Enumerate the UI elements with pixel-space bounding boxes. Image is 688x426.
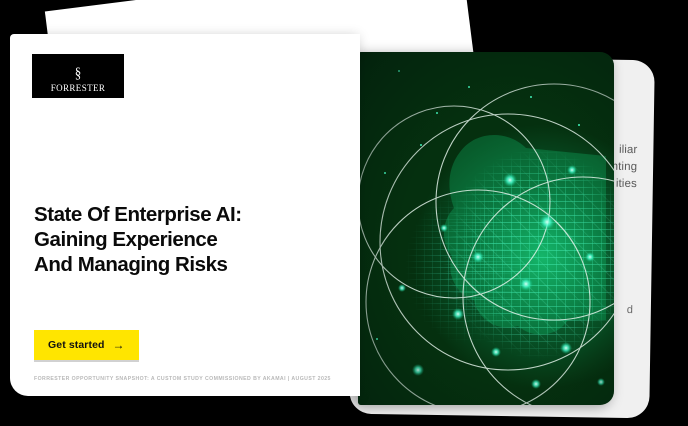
forrester-logo-mark: § [75, 65, 82, 80]
card-footer-text: FORRESTER OPPORTUNITY SNAPSHOT: A CUSTOM… [34, 376, 331, 382]
promo-main-card: § Forrester State Of Enterprise AI: Gain… [10, 34, 360, 396]
background-card-text-line-2: nting [612, 159, 638, 176]
page-title-line-2: Gaining Experience [34, 227, 242, 252]
get-started-button[interactable]: Get started → [34, 330, 139, 360]
page-title: State Of Enterprise AI: Gaining Experien… [34, 202, 242, 277]
get-started-label: Get started [48, 339, 105, 351]
background-card-text-line-1: iliar [612, 142, 638, 159]
page-title-line-3: And Managing Risks [34, 252, 242, 277]
background-card-text-lower: d [627, 302, 633, 318]
page-title-line-1: State Of Enterprise AI: [34, 202, 242, 227]
background-card-text-block: iliar nting ities [611, 142, 637, 193]
background-card-text-line-3: ities [611, 176, 637, 193]
forrester-logo-wordmark: Forrester [51, 80, 106, 94]
graphic-vignette [358, 52, 614, 405]
arrow-right-icon: → [113, 340, 125, 350]
promo-banner-stage: iliar nting ities d Balance Innovation W… [0, 0, 688, 426]
forrester-logo: § Forrester [32, 54, 124, 98]
ai-brain-circuit-graphic [358, 52, 614, 405]
